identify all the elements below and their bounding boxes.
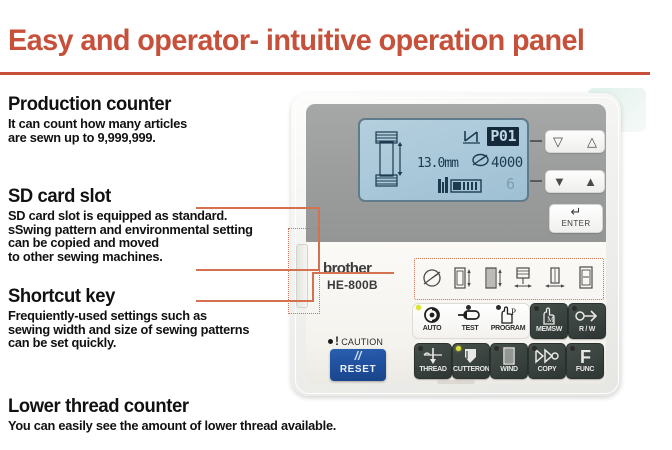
- feature-sd-card-slot: SD card slot SD card slot is equipped as…: [8, 186, 260, 263]
- cutteron-button[interactable]: CUTTERON: [452, 343, 490, 379]
- shortcut-callout-line-top: [312, 272, 394, 274]
- lcd-row-tick-2: [530, 180, 542, 182]
- memsw-button[interactable]: M MEMSW: [530, 303, 568, 339]
- copy-button-label: COPY: [529, 366, 565, 374]
- arrow-up-filled-icon[interactable]: ▲: [584, 173, 597, 190]
- feature-line: can be copied and moved: [8, 236, 253, 250]
- thread-button-label: THREAD: [415, 366, 451, 374]
- memsw-button-label: MEMSW: [531, 326, 567, 334]
- bobbin-thread-icon: [438, 177, 482, 195]
- infographic-stage: Easy and operator- intuitive operation p…: [0, 0, 672, 450]
- wind-button[interactable]: WIND: [490, 343, 528, 379]
- feature-line: SD card slot is equipped as standard.: [8, 209, 253, 223]
- func-led: [570, 346, 575, 351]
- feature-line: It can count how many articles: [8, 117, 187, 131]
- feature-title: SD card slot: [8, 186, 253, 208]
- auto-button-label: AUTO: [414, 325, 450, 333]
- feature-lower-thread-counter: Lower thread counter You can easily see …: [8, 396, 346, 433]
- svg-text:M: M: [547, 315, 554, 324]
- arrow-down-filled-icon[interactable]: ▼: [553, 173, 566, 190]
- feature-line: Frequiently-used settings such as: [8, 309, 249, 323]
- arrow-down-outline-icon[interactable]: ▽: [553, 133, 563, 150]
- feature-line: are sewn up to 9,999,999.: [8, 131, 187, 145]
- thread-button[interactable]: THREAD: [414, 343, 452, 379]
- read-write-button[interactable]: R / W: [568, 303, 606, 339]
- arrow-key-pad-filled[interactable]: ▼ ▲: [545, 170, 605, 193]
- func-button[interactable]: F FUNC: [566, 343, 604, 379]
- test-button[interactable]: TEST: [452, 303, 488, 337]
- enter-arrow-icon: ↵: [550, 205, 602, 219]
- test-button-label: TEST: [452, 325, 488, 333]
- lcd-speed-value: 4000: [491, 155, 523, 171]
- caution-text: CAUTION: [341, 337, 383, 347]
- lcd-dimension-value: 13.0mm: [417, 156, 458, 171]
- func-button-label: FUNC: [567, 366, 603, 374]
- test-led: [466, 305, 471, 310]
- buttonhole-pattern-icon: [373, 131, 403, 187]
- feature-line: sSwing pattern and environmental setting: [8, 223, 253, 237]
- cutteron-button-label: CUTTERON: [453, 366, 489, 374]
- enter-key[interactable]: ↵ ENTER: [549, 204, 603, 233]
- feature-shortcut-key: Shortcut key Frequiently-used settings s…: [8, 286, 257, 350]
- title-underline: [0, 72, 650, 75]
- program-led: [496, 305, 501, 310]
- program-button[interactable]: P PROGRAM: [490, 303, 526, 337]
- rw-led: [572, 306, 577, 311]
- memsw-led: [534, 306, 539, 311]
- caution-dot-icon: [328, 339, 333, 344]
- feature-title: Production counter: [8, 94, 187, 116]
- brother-logo: brother: [323, 260, 371, 277]
- feature-production-counter: Production counter It can count how many…: [8, 94, 193, 144]
- double-slash-icon: //: [330, 349, 386, 364]
- enter-key-label: ENTER: [550, 219, 602, 228]
- lcd-program-number: P01: [487, 127, 519, 146]
- feature-line: You can easily see the amount of lower t…: [8, 419, 336, 433]
- feature-title: Shortcut key: [8, 286, 249, 308]
- page-title: Easy and operator- intuitive operation p…: [8, 24, 584, 58]
- svg-text:P: P: [511, 307, 516, 317]
- reset-button[interactable]: // RESET: [330, 349, 386, 381]
- svg-text:F: F: [580, 347, 591, 365]
- feature-title: Lower thread counter: [8, 396, 336, 418]
- reset-button-label: RESET: [330, 364, 386, 375]
- thread-led: [418, 346, 423, 351]
- stitch-angle-icon: [463, 130, 483, 146]
- sd-slot-highlight-box: [288, 228, 320, 314]
- feature-line: can be set quickly.: [8, 336, 249, 350]
- cutteron-led: [456, 346, 461, 351]
- arrow-key-pad-outline[interactable]: ▽ △: [545, 130, 605, 153]
- lcd-lower-thread-count: 6: [506, 175, 515, 193]
- lcd-row-tick-1: [530, 140, 542, 142]
- program-button-label: PROGRAM: [490, 325, 526, 333]
- copy-button[interactable]: COPY: [528, 343, 566, 379]
- caution-label: !CAUTION: [328, 334, 383, 348]
- auto-button[interactable]: AUTO: [414, 303, 450, 337]
- hand-p-icon: P: [490, 306, 526, 325]
- auto-led: [416, 305, 421, 310]
- arrow-up-outline-icon[interactable]: △: [587, 133, 597, 150]
- rw-button-label: R / W: [569, 326, 605, 334]
- copy-led: [532, 346, 537, 351]
- model-name: HE-800B: [327, 278, 378, 292]
- feature-line: to other sewing machines.: [8, 250, 253, 264]
- speed-dial-icon: [472, 153, 489, 167]
- shortcut-keys-highlight-box: [414, 258, 604, 300]
- feature-line: sewing width and size of sewing patterns: [8, 323, 249, 337]
- wind-button-label: WIND: [491, 366, 527, 374]
- wind-led: [494, 346, 499, 351]
- keypad-notch: [437, 380, 475, 384]
- lcd-display: P01 13.0mm 4000 6: [358, 118, 529, 202]
- caution-exclamation-icon: !: [335, 334, 339, 348]
